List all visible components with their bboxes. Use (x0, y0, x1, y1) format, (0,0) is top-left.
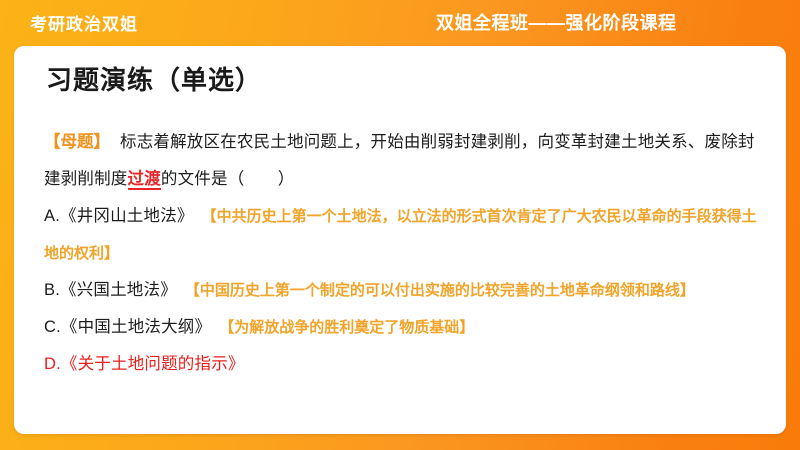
page-title: 习题演练（单选） (46, 60, 262, 97)
option-letter-d: D. (44, 355, 61, 373)
question-body: 【母题】标志着解放区在农民土地问题上，开始由削弱封建剥削，向变革封建土地关系、废… (44, 124, 760, 383)
course-title: 双姐全程班——强化阶段课程 (436, 9, 677, 35)
slide-header: 考研政治双姐 双姐全程班——强化阶段课程 (0, 0, 800, 48)
option-row-b[interactable]: B.《兴国土地法》【中国历史上第一个制定的可以付出实施的比较完善的土地革命纲领和… (44, 272, 760, 309)
question-stem-highlight: 过渡 (128, 170, 161, 190)
question-stem-part2: 的文件是（ ） (161, 170, 295, 188)
slide-root: 考研政治双姐 双姐全程班——强化阶段课程 习题演练（单选） 【母题】标志着解放区… (0, 0, 800, 450)
option-note-b: 【中国历史上第一个制定的可以付出实施的比较完善的土地革命纲领和路线】 (185, 282, 695, 299)
option-text-c: 《中国土地法大纲》 (61, 318, 211, 336)
brand-title: 考研政治双姐 (30, 10, 138, 35)
option-row-d[interactable]: D.《关于土地问题的指示》 (44, 346, 760, 383)
option-row-c[interactable]: C.《中国土地法大纲》【为解放战争的胜利奠定了物质基础】 (44, 309, 760, 346)
option-text-a: 《井冈山土地法》 (60, 207, 194, 225)
option-letter-a: A. (44, 207, 60, 225)
option-letter-c: C. (44, 318, 61, 336)
option-letter-b: B. (44, 281, 60, 299)
option-note-c: 【为解放战争的胜利奠定了物质基础】 (219, 319, 474, 336)
question-stem: 【母题】标志着解放区在农民土地问题上，开始由削弱封建剥削，向变革封建土地关系、废… (44, 124, 760, 198)
option-row-a[interactable]: A.《井冈山土地法》【中共历史上第一个土地法，以立法的形式首次肯定了广大农民以革… (44, 198, 760, 272)
question-tag: 【母题】 (44, 133, 110, 151)
option-text-b: 《兴国土地法》 (60, 281, 177, 299)
option-text-d: 《关于土地问题的指示》 (61, 355, 245, 373)
content-card: 习题演练（单选） 【母题】标志着解放区在农民土地问题上，开始由削弱封建剥削，向变… (14, 46, 786, 434)
